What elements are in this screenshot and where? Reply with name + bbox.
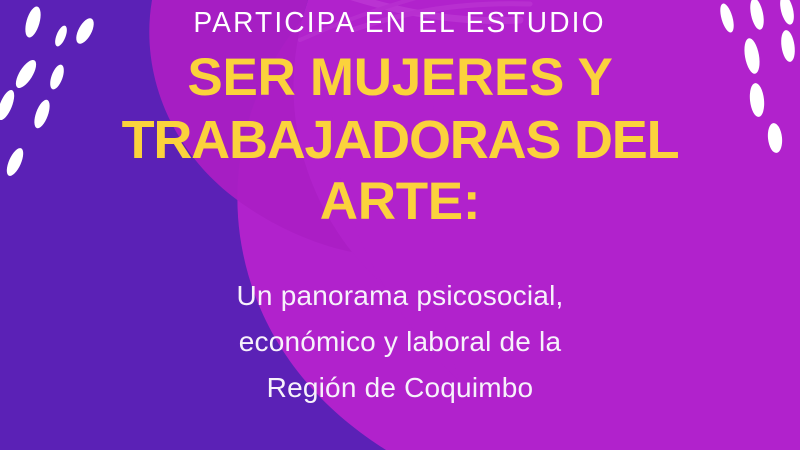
- poster-canvas: PARTICIPA EN EL ESTUDIO SER MUJERES Y TR…: [0, 0, 800, 450]
- headline-line-2: TRABAJADORAS DEL: [20, 109, 780, 171]
- subtitle-line-3: Región de Coquimbo: [80, 365, 720, 411]
- headline-line-1: SER MUJERES Y: [20, 47, 780, 109]
- poster-headline: SER MUJERES Y TRABAJADORAS DEL ARTE:: [20, 47, 780, 233]
- subtitle-line-1: Un panorama psicosocial,: [80, 273, 720, 319]
- headline-line-3: ARTE:: [20, 171, 780, 233]
- poster-content: PARTICIPA EN EL ESTUDIO SER MUJERES Y TR…: [0, 0, 800, 450]
- eyebrow-text: PARTICIPA EN EL ESTUDIO: [194, 5, 606, 41]
- poster-subtitle: Un panorama psicosocial, económico y lab…: [80, 273, 720, 411]
- subtitle-line-2: económico y laboral de la: [80, 319, 720, 365]
